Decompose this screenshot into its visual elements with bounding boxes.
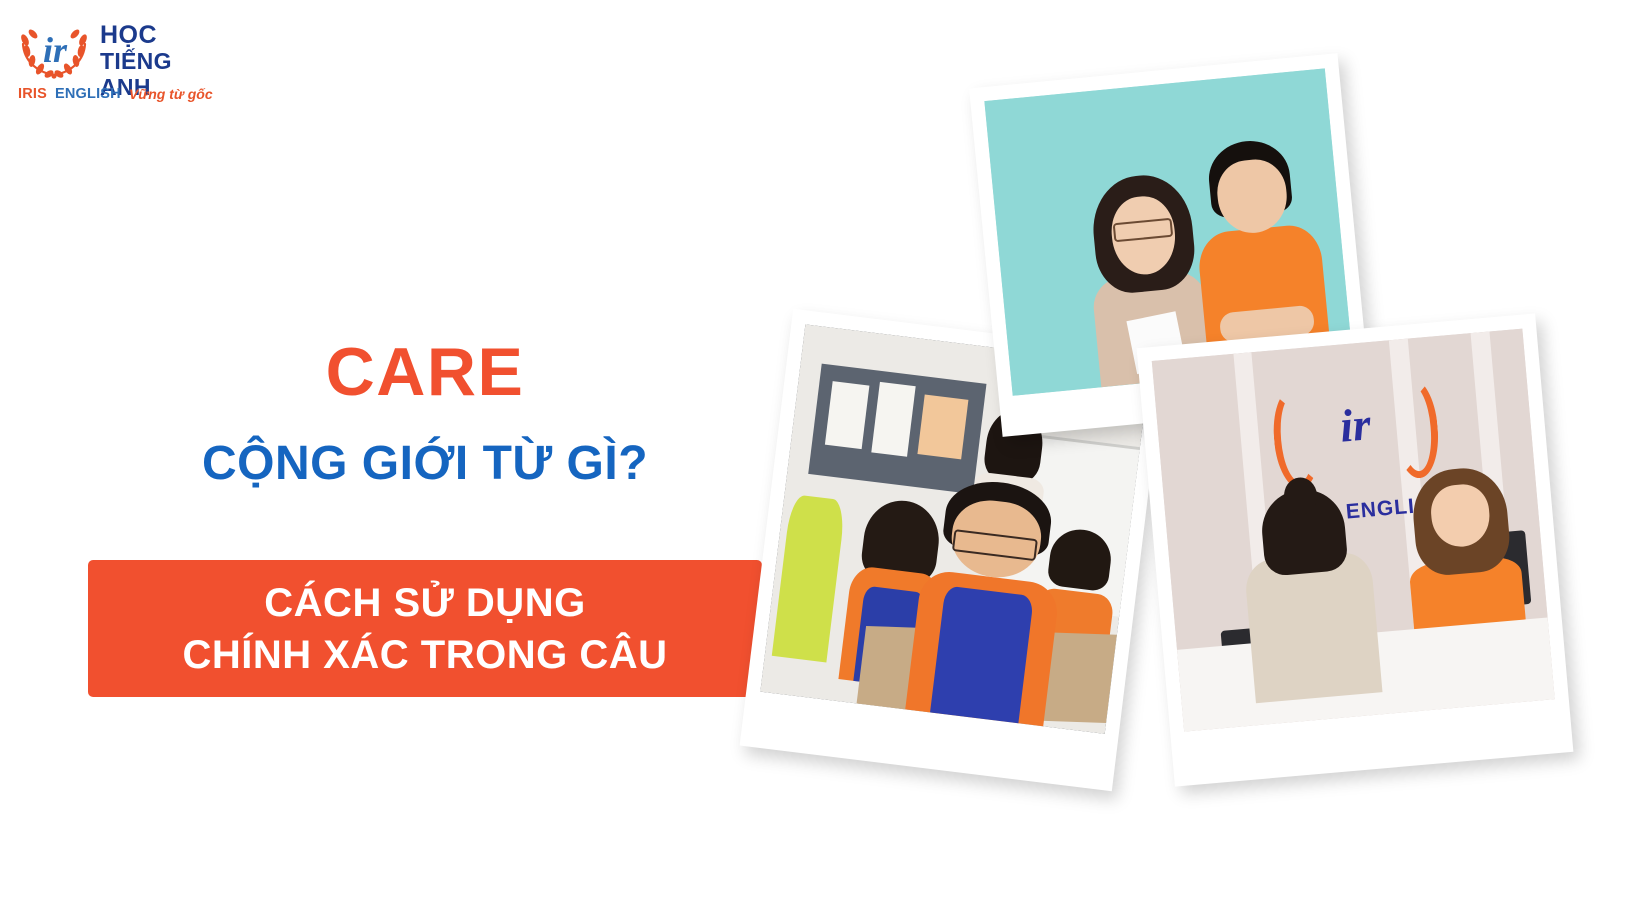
logo-brand-iris: IRIS [18, 86, 47, 102]
banner-line-2: CHÍNH XÁC TRONG CÂU [182, 629, 667, 681]
classroom-noticeboard [808, 364, 987, 494]
laurel-wreath-ir-icon: ir [16, 18, 94, 80]
wreath-right-icon [1389, 377, 1442, 480]
wall-logo-ir-text: ir [1318, 386, 1392, 464]
page-title-keyword: CARE [88, 336, 762, 408]
logo-brand-english: ENGLISH [55, 86, 121, 102]
reception-customer [1238, 484, 1382, 703]
reception-staff [1401, 464, 1526, 637]
logo-top-row: ir HỌC TIẾNG ANH [16, 18, 216, 84]
polaroid-consultation-desk: ir IRIS ENGLISH [1137, 313, 1574, 786]
photo-consultation-desk: ir IRIS ENGLISH [1152, 329, 1555, 732]
logo-bottom-row: IRIS ENGLISH Vững từ gốc [16, 86, 216, 102]
page-subtitle-question: CỘNG GIỚI TỪ GÌ? [88, 436, 762, 492]
banner-line-1: CÁCH SỬ DỤNG [264, 577, 585, 629]
logo-tagline: Vững từ gốc [129, 86, 213, 102]
logo-line-hoc: HỌC [100, 22, 216, 48]
notice-paper [825, 381, 869, 449]
highlight-banner: CÁCH SỬ DỤNG CHÍNH XÁC TRONG CÂU [88, 560, 762, 697]
classroom-child-foreground [905, 474, 1072, 726]
notice-paper [871, 382, 916, 457]
notice-paper [918, 394, 968, 459]
brand-logo[interactable]: ir HỌC TIẾNG ANH IRIS ENGLISH Vững từ gố… [16, 18, 216, 114]
child-vest [930, 586, 1034, 724]
photo-collage: ir IRIS ENGLISH [740, 0, 1640, 924]
wreath-left-icon [1270, 387, 1323, 490]
svg-text:ir: ir [43, 30, 68, 70]
customer-body [1244, 551, 1382, 703]
